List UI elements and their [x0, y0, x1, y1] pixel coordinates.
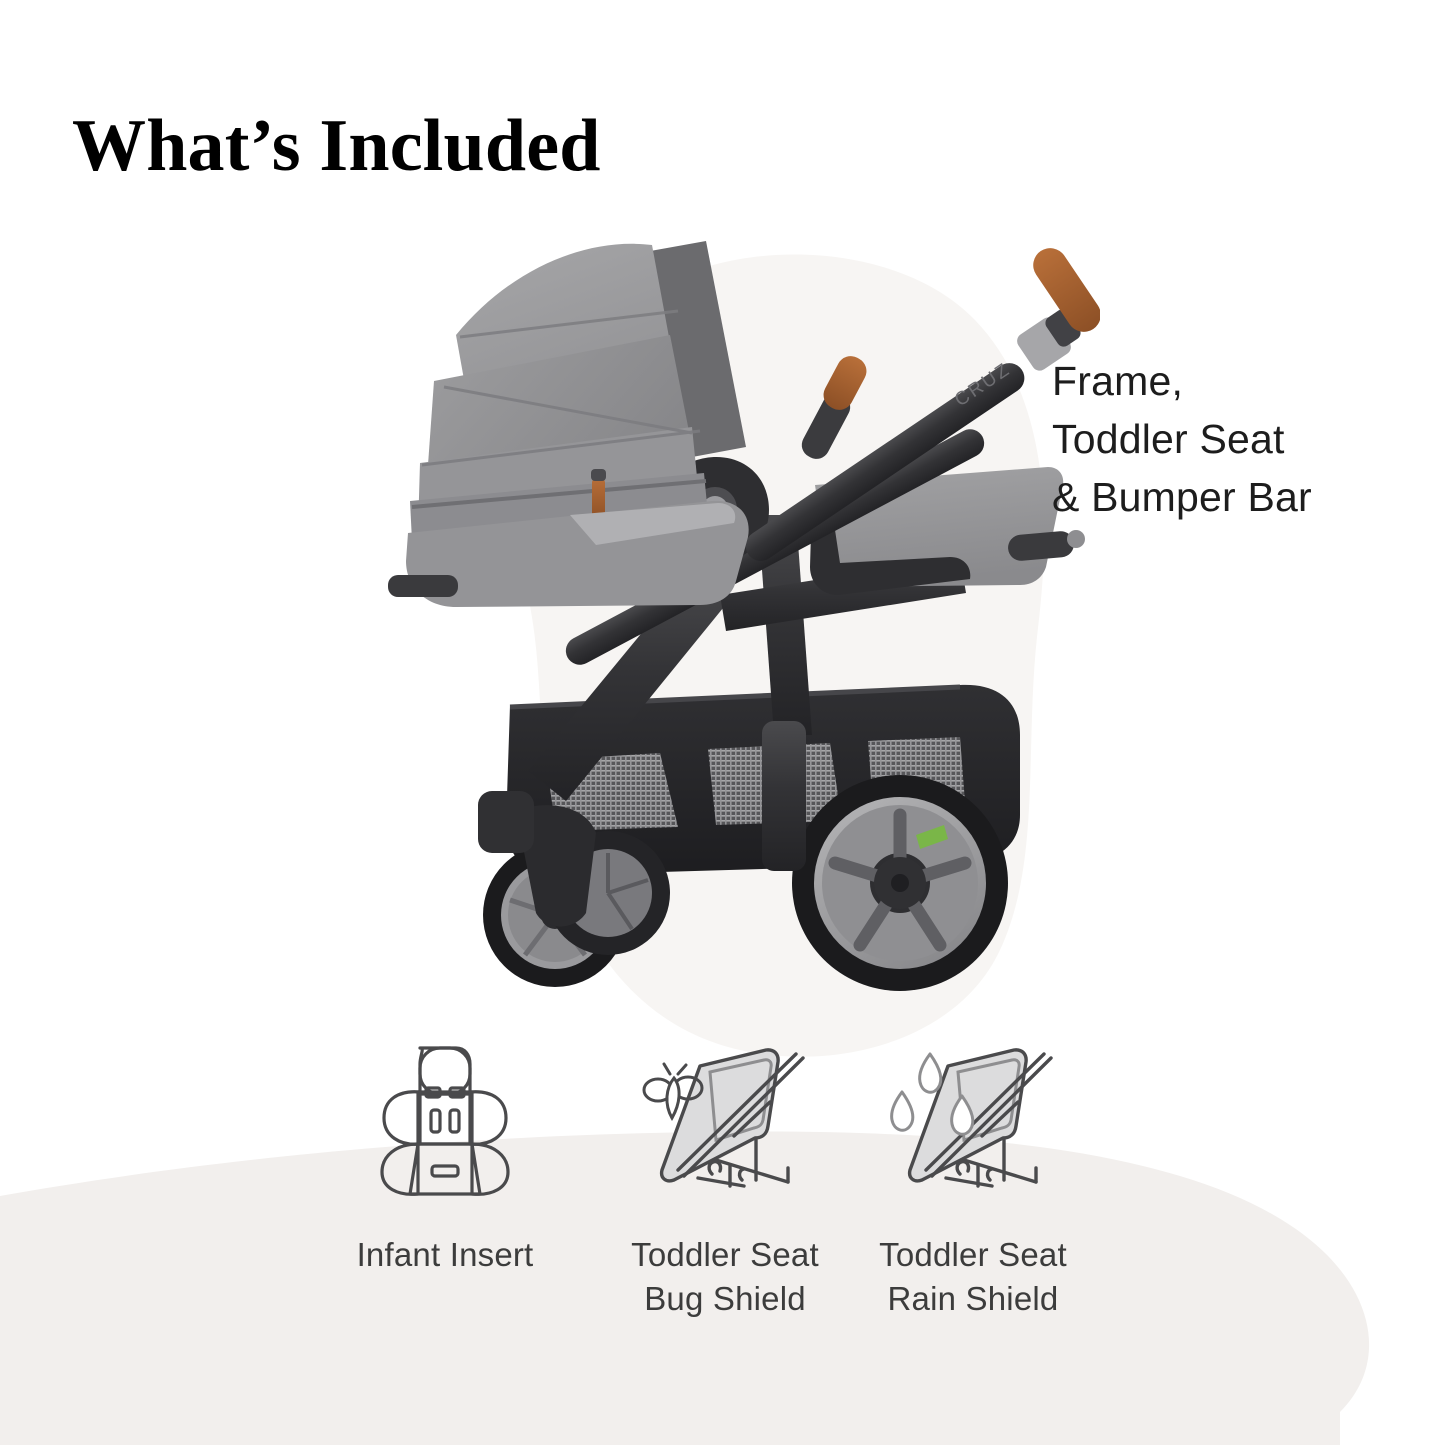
page-title: What’s Included	[72, 108, 601, 186]
hero-note-line-2: Toddler Seat	[1052, 410, 1312, 468]
accessory-label-line-1: Infant Insert	[320, 1233, 570, 1277]
bug-shield-icon	[600, 1035, 850, 1200]
rain-shield-icon	[848, 1035, 1098, 1200]
stroller-illustration: CRUZ	[360, 215, 1100, 1045]
accessory-label-line-1: Toddler Seat	[848, 1233, 1098, 1277]
accessory-label-line-2: Rain Shield	[848, 1277, 1098, 1321]
accessory-label-line-1: Toddler Seat	[600, 1233, 850, 1277]
accessory-bug-shield: Toddler Seat Bug Shield	[600, 1035, 850, 1321]
accessory-label-line-2: Bug Shield	[600, 1277, 850, 1321]
hero-note-line-1: Frame,	[1052, 352, 1312, 410]
accessories-row: Infant Insert	[0, 1035, 1445, 1365]
accessory-infant-insert: Infant Insert	[320, 1035, 570, 1277]
hero-note-line-3: & Bumper Bar	[1052, 468, 1312, 526]
accessory-label: Toddler Seat Rain Shield	[848, 1233, 1098, 1321]
infant-insert-icon	[320, 1035, 570, 1200]
infographic-canvas: What’s Included	[0, 0, 1445, 1445]
hero-product-image: CRUZ	[360, 215, 1100, 1045]
hero-note: Frame, Toddler Seat & Bumper Bar	[1052, 352, 1312, 527]
accessory-rain-shield: Toddler Seat Rain Shield	[848, 1035, 1098, 1321]
bassinet-canopy	[388, 241, 749, 607]
rear-wheel	[792, 775, 1008, 991]
accessory-label: Infant Insert	[320, 1233, 570, 1277]
accessory-label: Toddler Seat Bug Shield	[600, 1233, 850, 1321]
